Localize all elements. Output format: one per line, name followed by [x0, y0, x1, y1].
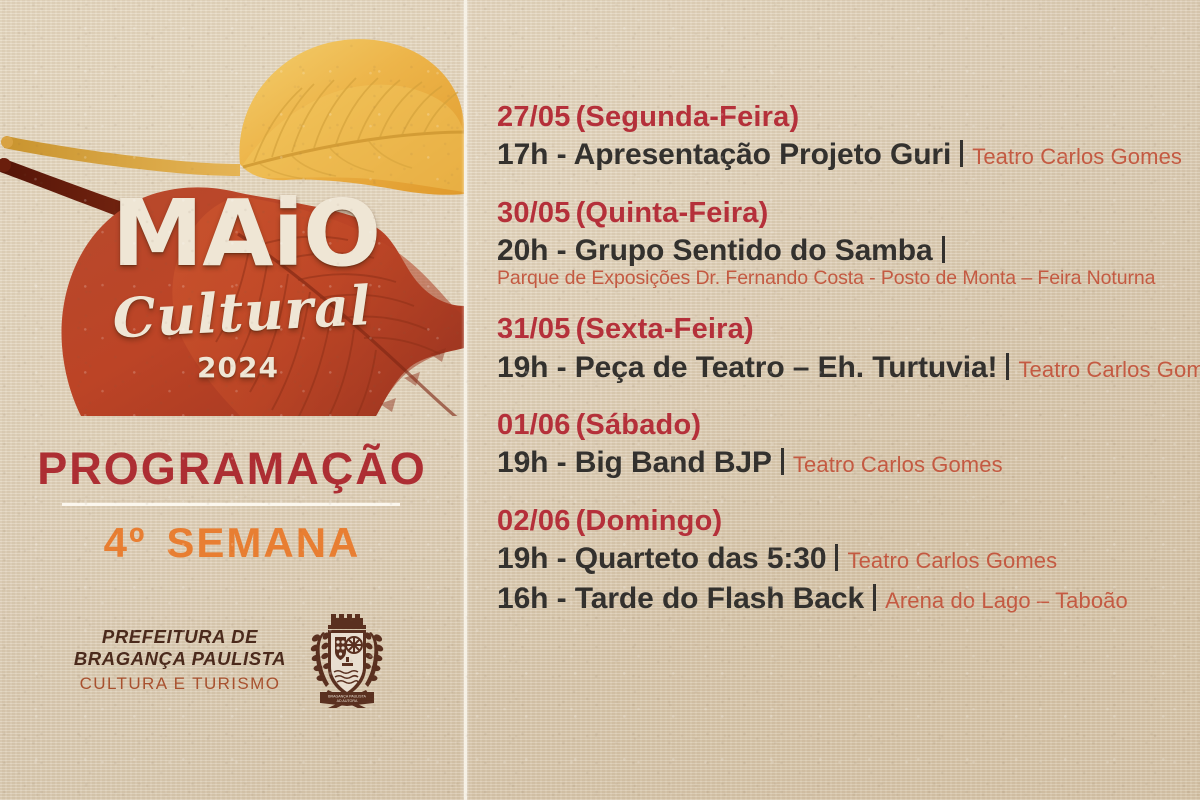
separator-bar: [835, 544, 838, 571]
event-title: 17h - Apresentação Projeto Guri: [497, 136, 951, 174]
separator-bar: [1006, 353, 1009, 380]
event-venue: Teatro Carlos Gomes: [1018, 356, 1200, 384]
separator-bar: [942, 236, 945, 263]
event-detail-row: 19h - Peça de Teatro – Eh. Turtuvia! Tea…: [497, 349, 1187, 387]
title-divider-rule: [62, 503, 400, 506]
event-weekday: (Sábado): [576, 409, 702, 441]
event-venue: Teatro Carlos Gomes: [847, 547, 1057, 575]
event-date-line: 30/05(Quinta-Feira): [497, 196, 1187, 230]
vertical-divider: [464, 0, 467, 800]
event-date-line: 01/06(Sábado): [497, 408, 1187, 442]
poster-root: MAiO Cultural 2024 PROGRAMAÇÃO 4ºSEMANA …: [0, 0, 1200, 800]
event-title: 16h - Tarde do Flash Back: [497, 580, 864, 618]
separator-bar: [873, 584, 876, 611]
event-date: 01/06: [497, 409, 571, 441]
week-ordinal: 4º: [104, 519, 147, 566]
event-date: 31/05: [497, 313, 571, 345]
event-title: 20h - Grupo Sentido do Samba: [497, 232, 933, 270]
event-weekday: (Quinta-Feira): [576, 197, 769, 229]
event-title: 19h - Peça de Teatro – Eh. Turtuvia!: [497, 349, 997, 387]
page-title: PROGRAMAÇÃO: [0, 443, 464, 495]
crest-banner-line-1: BRAGANÇA PAULISTA: [328, 694, 366, 698]
week-label: SEMANA: [166, 519, 360, 566]
event-block: 01/06(Sábado) 19h - Big Band BJP Teatro …: [497, 408, 1187, 482]
prefeitura-line-1: PREFEITURA DE: [74, 626, 286, 648]
coat-of-arms-icon: BRAGANÇA PAULISTA AD AUTORA: [304, 612, 390, 708]
event-date-line: 02/06(Domingo): [497, 504, 1187, 538]
event-title: 19h - Big Band BJP: [497, 444, 772, 482]
separator-bar: [960, 140, 963, 167]
event-venue: Teatro Carlos Gomes: [972, 143, 1182, 171]
event-venue: Parque de Exposições Dr. Fernando Costa …: [497, 267, 1187, 290]
event-block: 30/05(Quinta-Feira) 20h - Grupo Sentido …: [497, 196, 1187, 291]
event-detail-row: 17h - Apresentação Projeto Guri Teatro C…: [497, 136, 1187, 174]
leaf-red: [61, 187, 464, 416]
event-detail-row: 16h - Tarde do Flash Back Arena do Lago …: [497, 580, 1187, 618]
event-block: 02/06(Domingo) 19h - Quarteto das 5:30 T…: [497, 504, 1187, 617]
schedule-list: 27/05(Segunda-Feira) 17h - Apresentação …: [497, 100, 1187, 639]
event-weekday: (Sexta-Feira): [576, 313, 754, 345]
maio-cultural-logo: MAiO Cultural 2024: [0, 6, 464, 416]
leaf-yellow: [239, 39, 464, 195]
crest-banner-line-2: AD AUTORA: [337, 699, 358, 703]
autumn-leaves-illustration: [0, 6, 464, 416]
event-date: 27/05: [497, 101, 571, 133]
event-block: 31/05(Sexta-Feira) 19h - Peça de Teatro …: [497, 312, 1187, 386]
footer-branding: PREFEITURA DE BRAGANÇA PAULISTA CULTURA …: [0, 612, 464, 708]
event-detail-row: 20h - Grupo Sentido do Samba: [497, 232, 1187, 270]
event-date-line: 27/05(Segunda-Feira): [497, 100, 1187, 134]
prefeitura-line-2: BRAGANÇA PAULISTA: [74, 648, 286, 670]
prefeitura-text: PREFEITURA DE BRAGANÇA PAULISTA CULTURA …: [74, 626, 286, 694]
event-weekday: (Segunda-Feira): [576, 101, 800, 133]
left-panel: MAiO Cultural 2024 PROGRAMAÇÃO 4ºSEMANA …: [0, 0, 464, 800]
event-date-line: 31/05(Sexta-Feira): [497, 312, 1187, 346]
event-detail-row: 19h - Big Band BJP Teatro Carlos Gomes: [497, 444, 1187, 482]
event-date: 30/05: [497, 197, 571, 229]
separator-bar: [781, 448, 784, 475]
week-subtitle: 4ºSEMANA: [0, 519, 464, 567]
event-venue: Arena do Lago – Taboão: [885, 587, 1128, 615]
leaf-stem-yellow: [4, 136, 240, 176]
department-label: CULTURA E TURISMO: [74, 674, 286, 694]
event-venue: Teatro Carlos Gomes: [793, 451, 1003, 479]
event-weekday: (Domingo): [576, 505, 723, 537]
event-title: 19h - Quarteto das 5:30: [497, 540, 826, 578]
event-date: 02/06: [497, 505, 571, 537]
event-block: 27/05(Segunda-Feira) 17h - Apresentação …: [497, 100, 1187, 174]
event-detail-row: 19h - Quarteto das 5:30 Teatro Carlos Go…: [497, 540, 1187, 578]
